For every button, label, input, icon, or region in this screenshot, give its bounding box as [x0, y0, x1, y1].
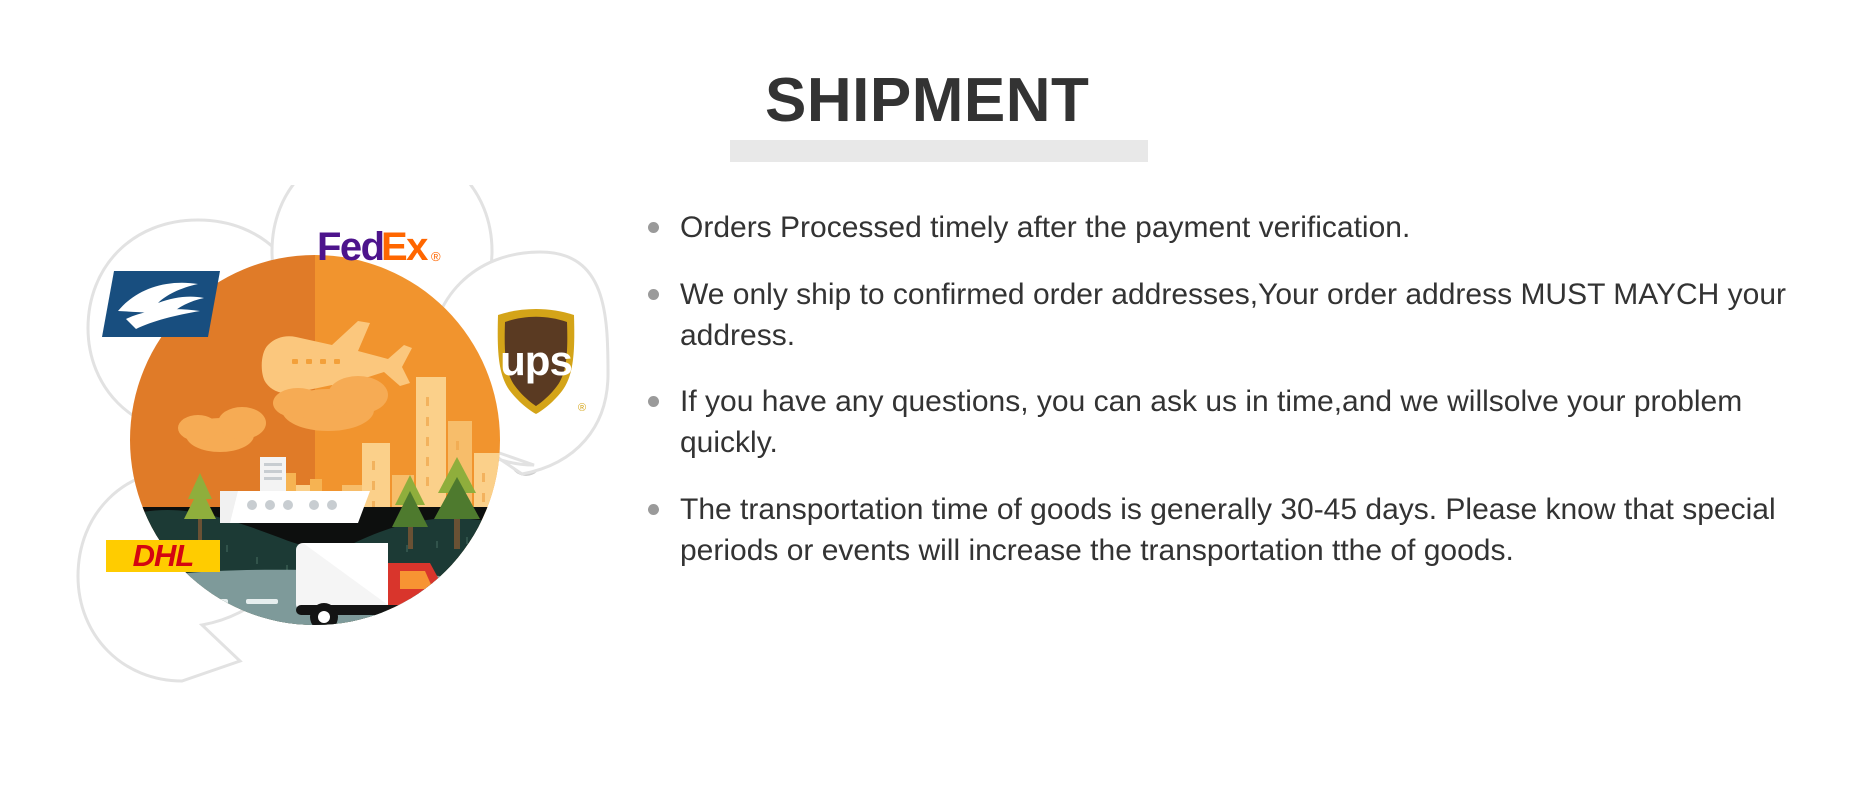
page-title: SHIPMENT [765, 67, 1089, 135]
ups-registered-icon: ® [578, 402, 586, 414]
shipping-logistics-illustration: Fed Ex ® ups ® DHL [70, 185, 630, 695]
usps-logo [102, 271, 220, 337]
bullet-dot-icon [648, 396, 659, 407]
title-highlight-bar [730, 140, 1148, 162]
list-item-text: The transportation time of goods is gene… [680, 490, 1790, 572]
list-item-text: We only ship to confirmed order addresse… [680, 275, 1790, 357]
ups-label-text: ups [500, 337, 572, 384]
shipment-slide: Fed Ex ® ups ® DHL SHIPMENT [0, 0, 1866, 800]
bullet-dot-icon [648, 289, 659, 300]
list-item: The transportation time of goods is gene… [640, 490, 1790, 572]
list-item-text: Orders Processed timely after the paymen… [680, 208, 1790, 249]
list-item: If you have any questions, you can ask u… [640, 382, 1790, 464]
dhl-logo: DHL [106, 538, 220, 573]
fedex-ex-text: Ex [381, 225, 428, 269]
page-title-block: SHIPMENT [640, 40, 1830, 160]
dhl-label-text: DHL [133, 538, 194, 573]
list-item: Orders Processed timely after the paymen… [640, 208, 1790, 249]
shipment-policy-list: Orders Processed timely after the paymen… [640, 208, 1790, 572]
list-item: We only ship to confirmed order addresse… [640, 275, 1790, 357]
bullet-dot-icon [648, 504, 659, 515]
fedex-logo: Fed Ex ® [317, 225, 441, 269]
fedex-fed-text: Fed [317, 225, 384, 269]
fedex-registered-icon: ® [431, 249, 441, 264]
list-item-text: If you have any questions, you can ask u… [680, 382, 1790, 464]
shipment-content: SHIPMENT Orders Processed timely after t… [640, 40, 1830, 760]
bullet-dot-icon [648, 222, 659, 233]
